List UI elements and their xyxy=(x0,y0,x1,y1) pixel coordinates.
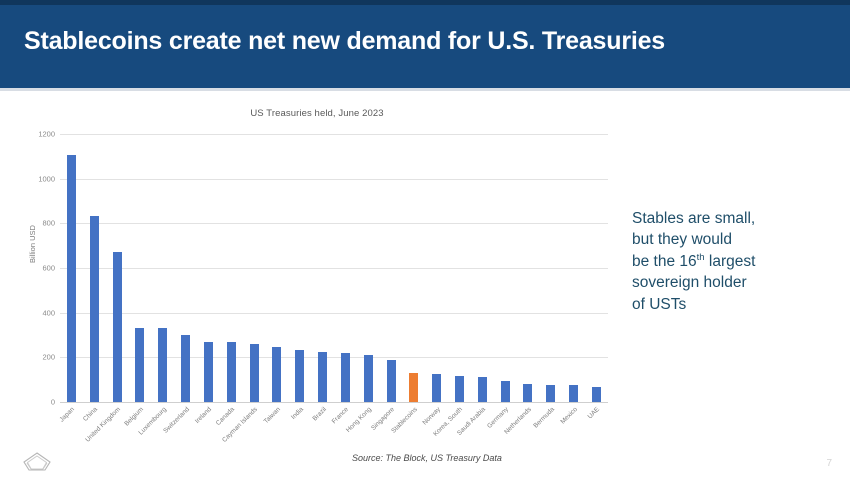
x-axis-tick: Brazil xyxy=(311,406,327,422)
x-axis-tick: Ireland xyxy=(194,406,213,425)
chart-source: Source: The Block, US Treasury Data xyxy=(352,453,502,463)
callout-ordinal-suffix: th xyxy=(697,252,705,263)
y-axis-tick: 1000 xyxy=(38,174,55,183)
bar xyxy=(341,353,350,402)
x-axis-label-slot: Japan xyxy=(60,404,83,464)
bar xyxy=(364,355,373,402)
callout-line-5: of USTs xyxy=(632,296,686,313)
bar-slot xyxy=(265,134,288,402)
x-axis-labels: JapanChinaUnited KingdomBelgiumLuxembour… xyxy=(60,404,608,464)
x-axis-label-slot: United Kingdom xyxy=(106,404,129,464)
bar-slot xyxy=(311,134,334,402)
page-number: 7 xyxy=(826,458,832,469)
header-divider xyxy=(0,88,850,91)
bar xyxy=(546,385,555,402)
bar xyxy=(272,347,281,402)
bar xyxy=(295,350,304,402)
bar-slot xyxy=(425,134,448,402)
x-axis-tick: India xyxy=(290,406,305,421)
callout-line-4: sovereign holder xyxy=(632,274,747,291)
bar xyxy=(135,328,144,402)
bar-slot xyxy=(151,134,174,402)
bar-slot xyxy=(60,134,83,402)
callout-line-3a: be the 16 xyxy=(632,253,697,270)
callout-text: Stables are small, but they would be the… xyxy=(632,208,828,315)
x-axis-label-slot: Bermuda xyxy=(539,404,562,464)
page-title: Stablecoins create net new demand for U.… xyxy=(24,27,665,56)
slide: Stablecoins create net new demand for U.… xyxy=(0,0,850,478)
bar-slot xyxy=(106,134,129,402)
bar-slot xyxy=(494,134,517,402)
header-top-rule xyxy=(0,0,850,5)
bar xyxy=(455,376,464,402)
x-axis-tick: Japan xyxy=(59,406,76,423)
bar xyxy=(227,342,236,402)
x-axis-label-slot: India xyxy=(288,404,311,464)
pentagon-logo-icon xyxy=(22,450,52,472)
bar-slot xyxy=(402,134,425,402)
bar-slot xyxy=(288,134,311,402)
y-axis-tick: 1200 xyxy=(38,130,55,139)
bar xyxy=(67,155,76,402)
x-axis-label-slot: Switzerland xyxy=(174,404,197,464)
bar-slot xyxy=(539,134,562,402)
y-axis-tick: 0 xyxy=(51,398,55,407)
y-axis-tick: 600 xyxy=(42,264,55,273)
bar xyxy=(318,352,327,402)
bar-slot xyxy=(448,134,471,402)
bar-slot xyxy=(128,134,151,402)
bar-slot xyxy=(357,134,380,402)
bar xyxy=(569,385,578,402)
bar xyxy=(432,374,441,402)
x-axis-tick: Mexico xyxy=(559,406,579,426)
x-axis-label-slot: Brazil xyxy=(311,404,334,464)
bar xyxy=(158,328,167,402)
bar-slot xyxy=(334,134,357,402)
bar xyxy=(592,387,601,402)
bar-slot xyxy=(517,134,540,402)
gridline: 0 xyxy=(60,402,608,403)
chart-title: US Treasuries held, June 2023 xyxy=(22,108,612,119)
bar-slot xyxy=(380,134,403,402)
y-axis-tick: 200 xyxy=(42,353,55,362)
chart-bars xyxy=(60,134,608,402)
x-axis-label-slot: Taiwan xyxy=(265,404,288,464)
bar-slot xyxy=(83,134,106,402)
x-axis-tick: China xyxy=(82,406,99,423)
callout-line-1: Stables are small, xyxy=(632,210,755,227)
bar xyxy=(90,216,99,402)
bar-slot xyxy=(197,134,220,402)
bar xyxy=(181,335,190,402)
x-axis-label-slot: Mexico xyxy=(562,404,585,464)
bar-slot xyxy=(220,134,243,402)
x-axis-tick: UAE xyxy=(587,406,601,420)
x-axis-label-slot: Luxembourg xyxy=(151,404,174,464)
bar-slot xyxy=(174,134,197,402)
pentagon-logo xyxy=(22,450,52,472)
x-axis-tick: France xyxy=(331,406,350,425)
x-axis-label-slot: Ireland xyxy=(197,404,220,464)
chart-container: US Treasuries held, June 2023 Billion US… xyxy=(22,108,612,458)
bar-slot xyxy=(243,134,266,402)
bar-slot xyxy=(471,134,494,402)
bar xyxy=(409,373,418,402)
bar-slot xyxy=(585,134,608,402)
bar xyxy=(501,381,510,402)
y-axis-label: Billion USD xyxy=(28,225,37,263)
bar-slot xyxy=(562,134,585,402)
x-axis-label-slot: UAE xyxy=(585,404,608,464)
bar xyxy=(250,344,259,403)
bar xyxy=(523,384,532,402)
bar xyxy=(478,377,487,402)
x-axis-label-slot: Cayman Islands xyxy=(243,404,266,464)
y-axis-tick: 800 xyxy=(42,219,55,228)
y-axis-tick: 400 xyxy=(42,308,55,317)
callout-line-2: but they would xyxy=(632,231,732,248)
bar xyxy=(113,252,122,402)
x-axis-label-slot: Netherlands xyxy=(517,404,540,464)
callout-line-3b: largest xyxy=(705,253,756,270)
chart-plot-area: 020040060080010001200 xyxy=(60,134,608,402)
bar xyxy=(387,360,396,402)
bar xyxy=(204,342,213,402)
x-axis-tick: Taiwan xyxy=(263,406,282,425)
